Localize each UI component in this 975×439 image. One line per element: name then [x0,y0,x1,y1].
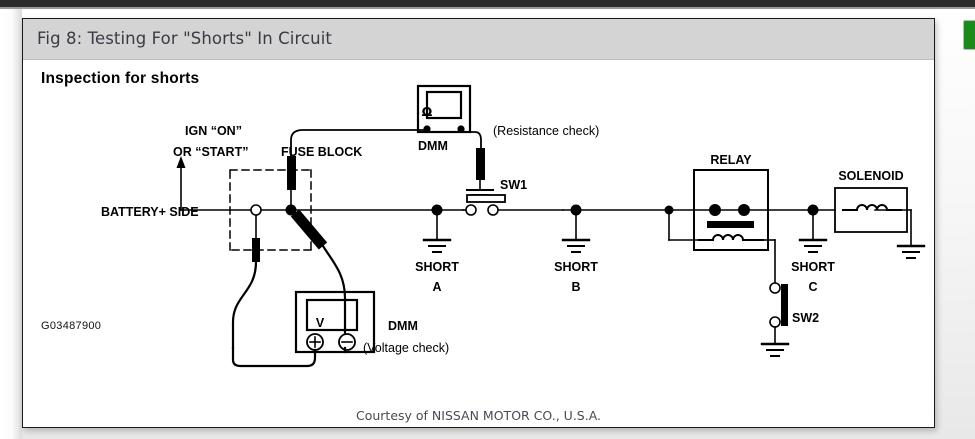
probe-tip-left [252,238,260,262]
label-solenoid: SOLENOID [838,169,903,183]
probe-tip-ohm [476,148,485,180]
label-voltage-check: (Voltage check) [363,341,449,355]
app-top-strip-edge [0,7,975,9]
label-sw1: SW1 [500,178,527,192]
figure-caption: Fig 8: Testing For "Shorts" In Circuit [37,29,332,48]
sw1-blade [467,195,505,202]
ground-symbol-solenoid [898,246,924,258]
probe-wire-left [233,262,256,348]
sw2-terminal-bottom [770,317,780,327]
label-dmm-top: DMM [418,139,448,153]
lead-left-into-jack [233,348,315,366]
app-top-strip [0,0,975,7]
sw1-terminal-right [488,205,498,215]
relay-contact-right [738,204,750,216]
relay-armature-bar [707,221,754,228]
ground-symbol-sw2 [762,344,788,356]
label-short-b-line2: B [571,280,580,294]
dmm-voltage-display [307,300,357,330]
relay-coil [699,235,763,240]
solenoid-coil [843,205,901,210]
label-relay: RELAY [710,153,752,167]
label-dmm-bottom: DMM [388,319,418,333]
ground-symbol-short-b [563,240,589,252]
ground-symbol-short-c [800,240,826,252]
ground-symbol-short-a [424,240,450,252]
probe-wire-right [323,246,345,348]
circuit-schematic: IGN “ON” OR “START” BATTERY+ SIDE FUSE B… [23,60,934,400]
sw2-blade [781,284,788,326]
label-sw2: SW2 [792,311,819,325]
label-short-c-line2: C [808,280,817,294]
figure-body: Inspection for shorts G03487900 Courtesy… [23,60,934,427]
wire-ohm-to-probe [461,132,481,148]
dmm-ohm-jack-left [423,125,430,132]
green-accent-chip[interactable] [963,20,975,50]
terminal-battery-side [251,205,261,215]
meter-volt-symbol: V [316,316,325,330]
sw1-terminal-left [466,205,476,215]
label-short-b-line1: SHORT [554,260,598,274]
label-ign-line1: IGN “ON” [185,124,242,138]
figure-courtesy: Courtesy of NISSAN MOTOR CO., U.S.A. [23,408,934,423]
label-short-a-line2: A [432,280,441,294]
sw2-terminal-top [770,283,780,293]
label-short-a-line1: SHORT [415,260,459,274]
page-left-gutter [0,9,22,439]
figure-caption-bar: Fig 8: Testing For "Shorts" In Circuit [23,19,934,60]
relay-contact-left [709,204,721,216]
label-short-c-line1: SHORT [791,260,835,274]
label-resistance-check: (Resistance check) [493,124,599,138]
probe-tip-right [295,213,323,246]
fuse-element [287,156,296,190]
figure-panel: Fig 8: Testing For "Shorts" In Circuit I… [22,18,935,428]
label-ign-line2: OR “START” [173,145,248,159]
meter-ohm-symbol: Ω [422,104,433,119]
label-battery-side: BATTERY+ SIDE [101,205,199,219]
label-fuse-block: FUSE BLOCK [281,145,362,159]
